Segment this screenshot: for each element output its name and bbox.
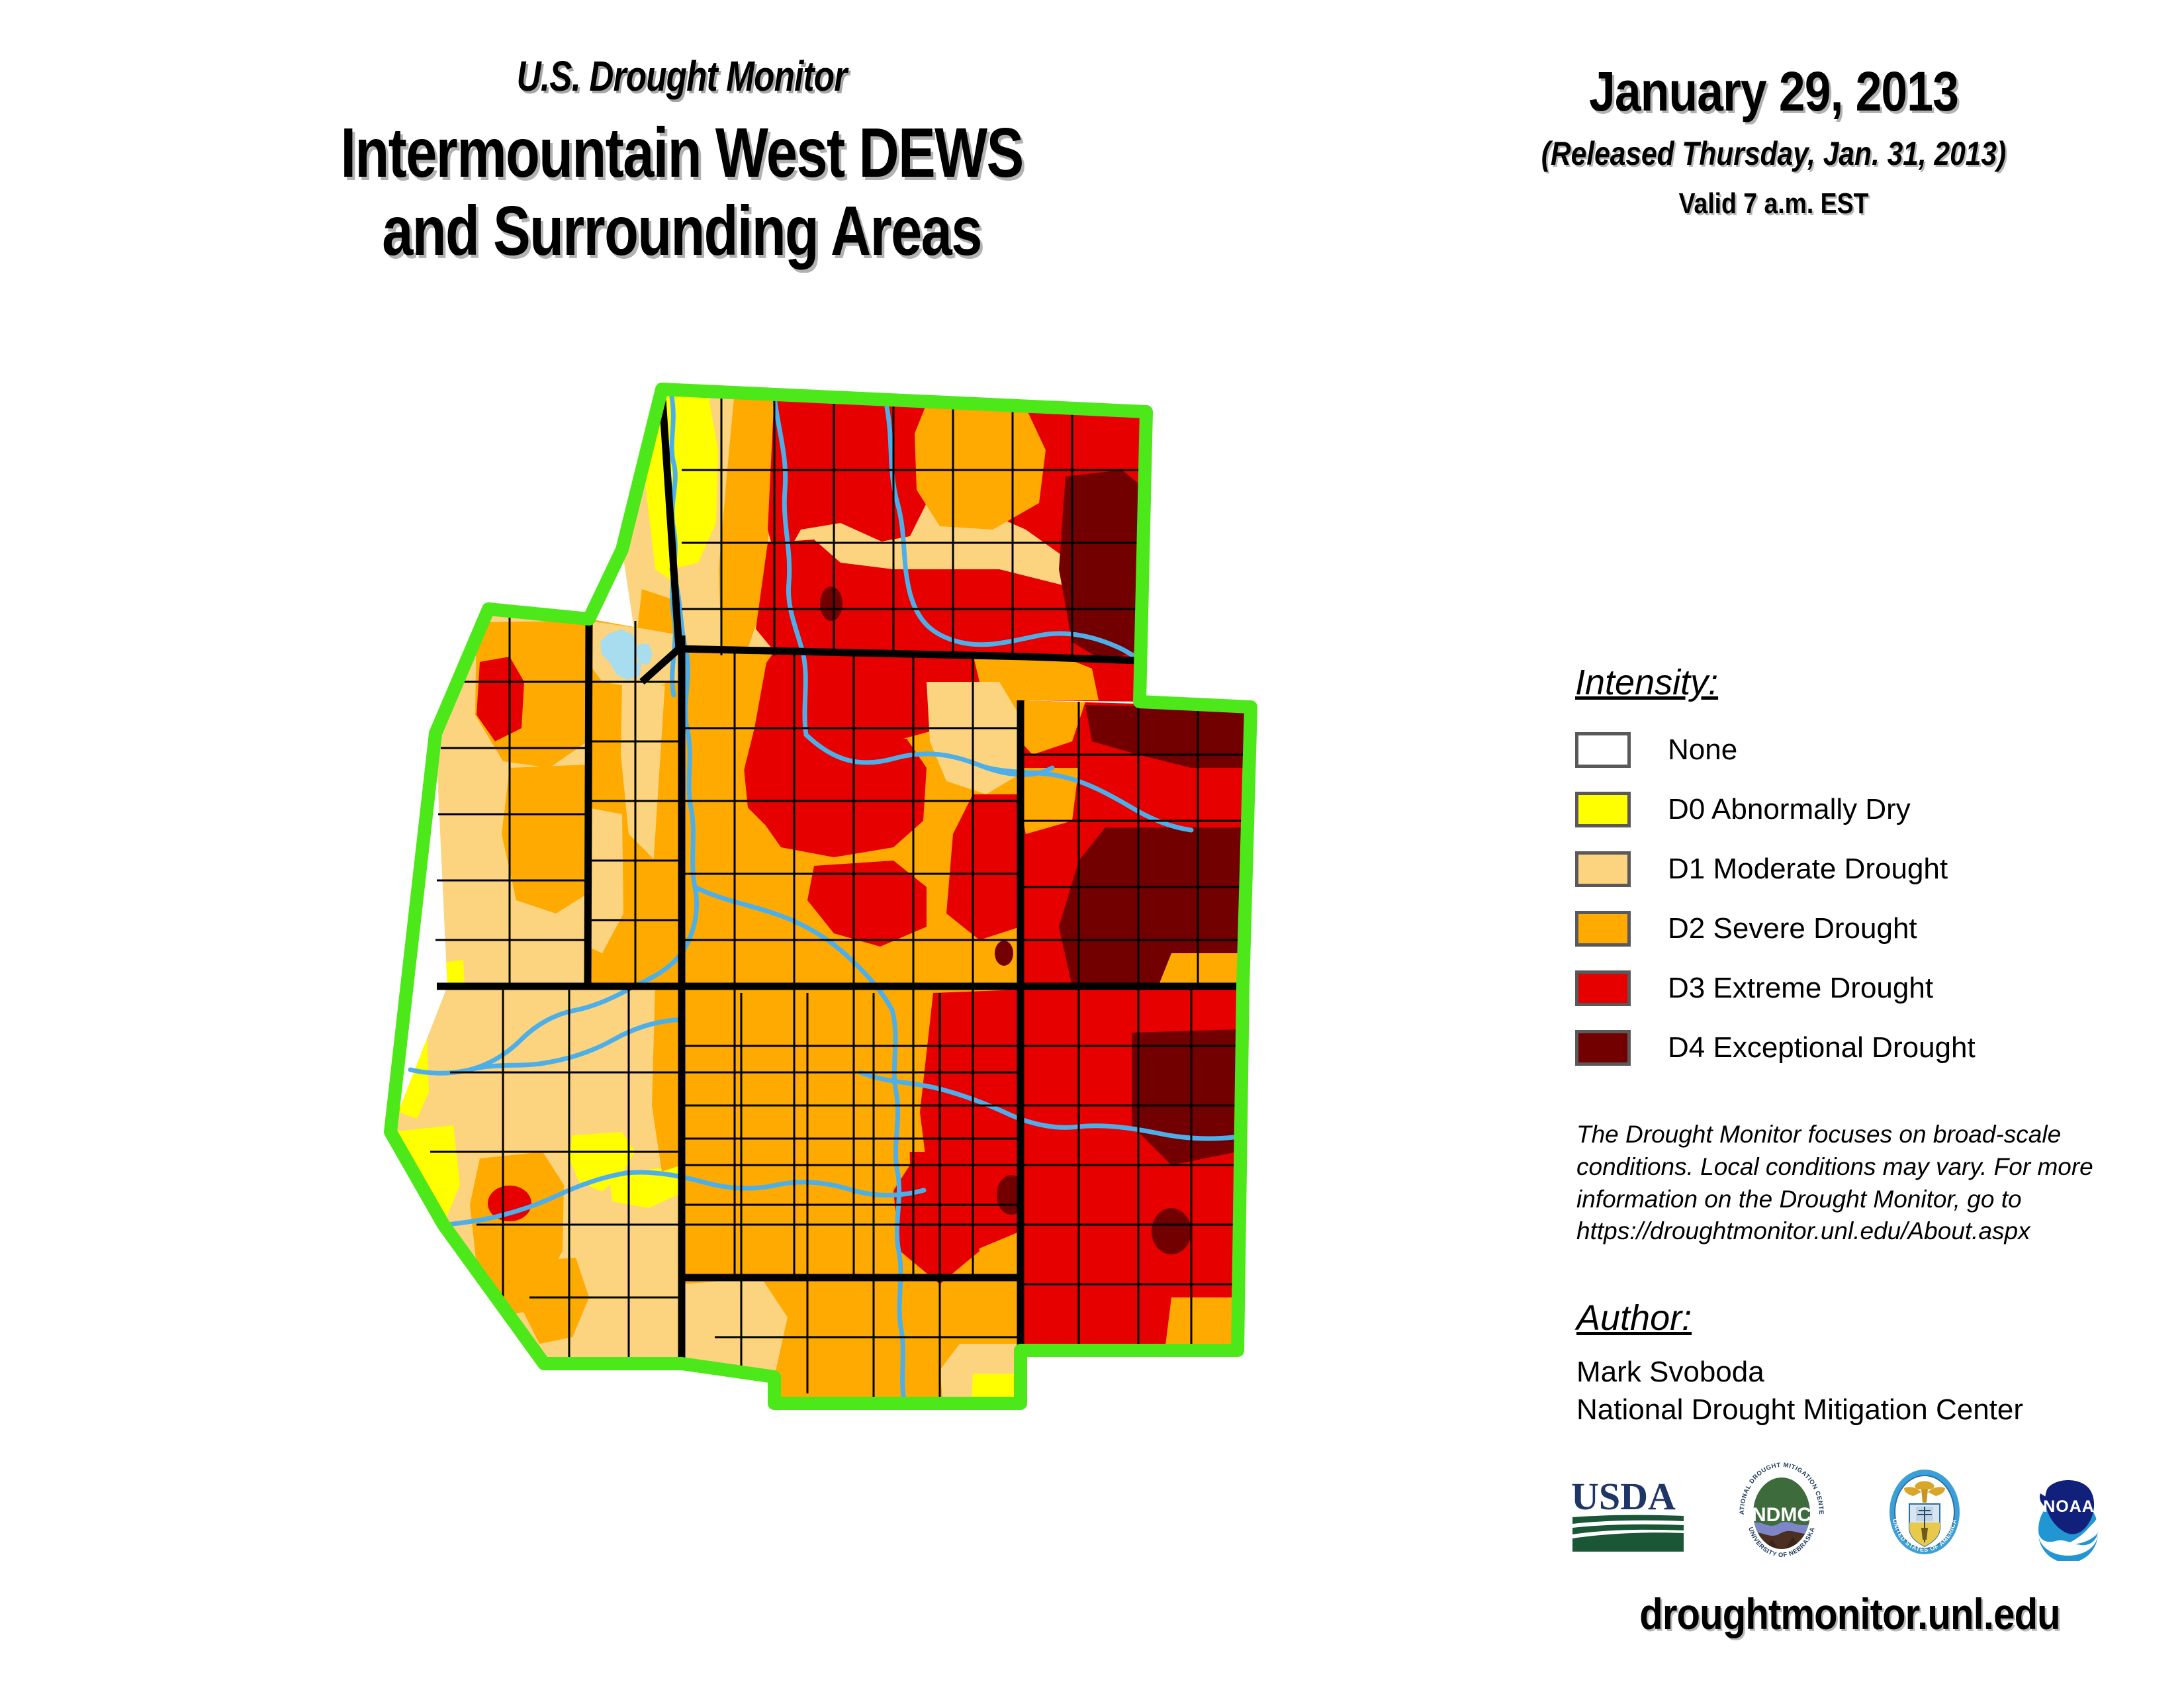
legend-label-none: None [1668, 733, 1737, 767]
drought-map[interactable] [311, 371, 1304, 1569]
doc-logo[interactable]: DEPARTMENT OF COMMERCE UNITED STATES OF … [1875, 1462, 1974, 1564]
legend-swatch-d4 [1575, 1030, 1631, 1066]
legend-title: Intensity: [1575, 662, 1718, 703]
legend-label-d1: D1 Moderate Drought [1668, 853, 1948, 886]
legend-label-d4: D4 Exceptional Drought [1668, 1031, 1976, 1064]
page-eyebrow: U.S. Drought Monitor [136, 52, 1227, 101]
disclaimer-line-1: The Drought Monitor focuses on broad-sca… [1576, 1119, 2106, 1151]
header-left-block: U.S. Drought Monitor Intermountain West … [0, 0, 1363, 269]
author-heading: Author: [1576, 1297, 1692, 1338]
valid-time: Valid 7 a.m. EST [1425, 187, 2122, 220]
legend-item-d1[interactable]: D1 Moderate Drought [1575, 839, 2131, 899]
disclaimer-url[interactable]: https://droughtmonitor.unl.edu/About.asp… [1576, 1215, 2106, 1248]
author-name: Mark Svoboda [1576, 1353, 2119, 1391]
legend-swatch-d3 [1575, 970, 1631, 1006]
legend-item-d3[interactable]: D3 Extreme Drought [1575, 959, 2131, 1018]
disclaimer-line-2: conditions. Local conditions may vary. F… [1576, 1151, 2106, 1184]
svg-text:NDMC: NDMC [1752, 1504, 1811, 1526]
legend-label-d2: D2 Severe Drought [1668, 912, 1917, 945]
noaa-logo[interactable]: NOAA [2019, 1462, 2118, 1564]
disclaimer-line-3: information on the Drought Monitor, go t… [1576, 1184, 2106, 1216]
legend-item-d2[interactable]: D2 Severe Drought [1575, 899, 2131, 959]
author-block: Author: Mark Svoboda National Drought Mi… [1576, 1297, 2119, 1429]
legend-item-d0[interactable]: D0 Abnormally Dry [1575, 780, 2131, 839]
page-title-line2: and Surrounding Areas [136, 193, 1227, 269]
map-region-arizona [384, 980, 695, 1377]
legend: Intensity: None D0 Abnormally Dry D1 Mod… [1575, 662, 2131, 1078]
legend-swatch-d1 [1575, 851, 1631, 887]
author-affiliation: National Drought Mitigation Center [1576, 1391, 2119, 1429]
svg-text:USDA: USDA [1571, 1475, 1676, 1518]
legend-swatch-d2 [1575, 911, 1631, 947]
legend-swatch-d0 [1575, 792, 1631, 827]
svg-text:NOAA: NOAA [2043, 1497, 2095, 1516]
legend-label-d0: D0 Abnormally Dry [1668, 793, 1911, 826]
logo-row: USDA NDMC NATIONAL DROUGHT MITIGATION CE [1569, 1453, 2118, 1572]
legend-label-d3: D3 Extreme Drought [1668, 972, 1933, 1005]
header-right-block: January 29, 2013 (Released Thursday, Jan… [1363, 0, 2184, 220]
ndmc-logo[interactable]: NDMC NATIONAL DROUGHT MITIGATION CENTER … [1732, 1462, 1831, 1564]
legend-item-none[interactable]: None [1575, 720, 2131, 780]
footer-url[interactable]: droughtmonitor.unl.edu [1608, 1589, 2091, 1639]
release-date: (Released Thursday, Jan. 31, 2013) [1425, 134, 2122, 173]
usda-logo[interactable]: USDA [1569, 1468, 1688, 1558]
valid-date: January 29, 2013 [1425, 60, 2122, 124]
legend-item-d4[interactable]: D4 Exceptional Drought [1575, 1018, 2131, 1078]
legend-swatch-none [1575, 732, 1631, 768]
map-region-kansas-oklahoma [1013, 986, 1244, 1357]
page-title-line1: Intermountain West DEWS [136, 115, 1227, 191]
drought-map-svg[interactable] [311, 371, 1304, 1569]
disclaimer-text: The Drought Monitor focuses on broad-sca… [1576, 1119, 2106, 1248]
